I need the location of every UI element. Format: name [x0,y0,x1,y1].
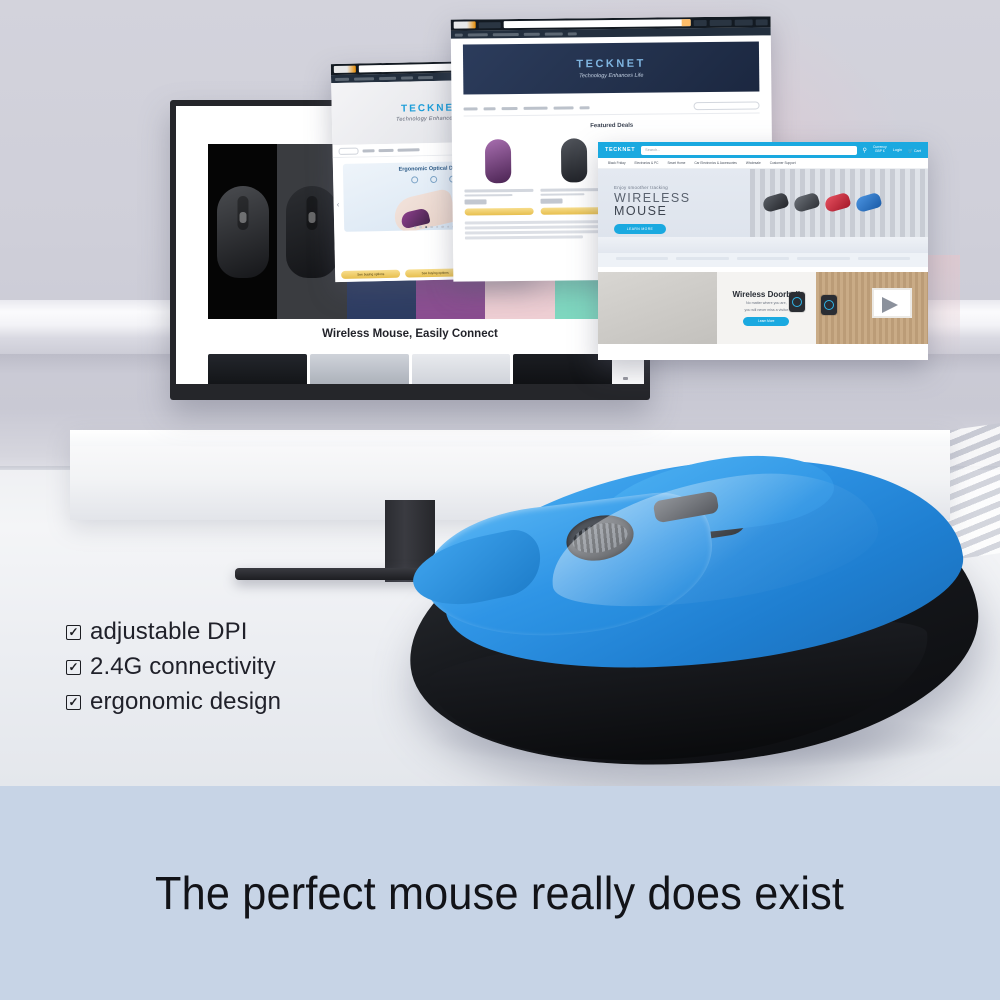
doorbell-device-icon [821,295,837,315]
feature-item: ✓ ergonomic design [66,688,281,716]
product-title-line [464,189,533,192]
wall-frame-decor [872,288,912,318]
menu-item-electronics-pc[interactable]: Electronics & PC [635,161,659,165]
product-title-line [540,193,585,196]
language-selector[interactable] [694,20,707,26]
feature-item: ✓ adjustable DPI [66,618,281,646]
amazon-logo[interactable] [334,66,356,73]
gallery-caption: Wireless Mouse, Easily Connect [176,328,644,340]
brand-tagline: Technology Enhances Life [579,72,643,79]
tab-mouse[interactable] [484,107,496,110]
search-icon[interactable]: ⚲ [863,147,867,154]
product-scene: Blue [0,0,1000,786]
mouse-thumbnail [561,138,587,182]
subnav-link-sell[interactable] [568,32,577,35]
tab-mouse[interactable] [363,149,375,152]
check-box-icon: ✓ [66,695,81,710]
strip-swatch [412,354,511,384]
mouse-thumbnail [286,186,338,278]
product-price [465,199,487,204]
promo-learn-more-button[interactable]: Learn More [743,317,789,326]
store-tab-nav [463,98,759,116]
tab-home[interactable] [338,147,358,154]
check-box-icon: ✓ [66,660,81,675]
hero-learn-more-button[interactable]: LEARN MORE [614,224,666,234]
currency-value: GBP £ [875,149,885,153]
search-input[interactable] [504,19,691,28]
menu-item-black-friday[interactable]: Black Friday [608,161,626,165]
buy-button-label: See buying options [341,270,400,279]
tab-keyboard[interactable] [379,148,394,151]
promo-left-photo [598,272,717,344]
gallery-strip [208,354,612,384]
amazon-logo[interactable] [454,21,476,28]
category-item[interactable] [616,257,668,260]
category-item[interactable] [737,257,789,260]
gallery-cell [208,144,277,319]
subnav-link[interactable] [379,76,396,79]
store-main-menu: Black Friday Electronics & PC Smart Home… [598,158,928,169]
doorbell-promo-banner[interactable]: Wireless Doorbell No matter where you ar… [598,272,928,344]
store-search-input[interactable] [694,101,760,110]
subnav-link[interactable] [335,77,349,80]
hero-copy: Enjoy smoother tracking WIRELESS MOUSE L… [614,185,691,234]
product-hero-mouse [398,452,1000,782]
product-card[interactable] [464,135,534,216]
check-box-icon: ✓ [66,625,81,640]
carousel-dot[interactable] [414,226,417,229]
login-link[interactable]: Login [893,148,902,152]
carousel-dot[interactable] [436,225,439,228]
detail-line [465,235,583,239]
feature-item: ✓ 2.4G connectivity [66,653,281,681]
tagline-banner: The perfect mouse really does exist [0,786,1000,1000]
menu-item-customer-support[interactable]: Customer Support [770,161,796,165]
cart-icon[interactable] [756,19,768,25]
subnav-link-todays-deals[interactable] [468,33,488,36]
subnav-link-all[interactable] [455,33,463,36]
brand-logo[interactable]: TECKNET [605,147,635,153]
mouse-icon [430,176,437,183]
tab-doorbell[interactable] [524,106,548,109]
hero-line-2: MOUSE [614,205,691,218]
mouse-black [761,192,789,213]
category-strip [598,253,928,267]
deliver-to[interactable] [479,22,501,28]
brand-logo: TECKNET [576,57,646,70]
carousel-dot[interactable] [441,225,444,228]
subnav-link[interactable] [401,76,413,79]
carousel-dot-active[interactable] [425,226,428,229]
promo-right-photo [816,272,928,344]
doorbell-device-icon [789,292,805,312]
tagline-text: The perfect mouse really does exist [155,866,844,920]
strip-swatch [310,354,409,384]
hero-mouse-lineup [763,195,881,210]
mouse-thumbnail [217,186,269,278]
tab-hubs[interactable] [580,106,590,109]
mouse-thumbnail [485,139,511,183]
hero-shelf [598,237,928,253]
power-led [623,377,628,380]
currency-selector[interactable]: Currency GBP £ [873,146,887,154]
mouse-gray [792,192,820,213]
brand-hero-banner: TECKNET Technology Enhances Life [463,41,760,94]
see-buying-options-button[interactable]: See buying options [341,270,400,279]
menu-item-smart-home[interactable]: Smart Home [667,161,685,165]
mouse-blue [854,192,882,213]
search-input[interactable]: Search... [641,146,856,155]
see-buying-options-button[interactable] [465,208,534,216]
subnav-link-registry[interactable] [524,32,540,35]
product-title-line [464,194,512,197]
category-item[interactable] [858,257,910,260]
category-item[interactable] [797,257,849,260]
menu-item-wholesale[interactable]: Wholesale [746,161,761,165]
subnav-link-gift-cards[interactable] [545,32,563,35]
account-menu[interactable] [710,19,732,25]
tab-keyboard[interactable] [502,106,518,109]
cart-icon[interactable]: 🛒 Cart [908,148,921,153]
orders-link[interactable] [735,19,753,25]
promo-subtitle-2: you will never miss a visitor [745,308,789,313]
feature-label: 2.4G connectivity [90,653,276,681]
carousel-dot[interactable] [447,225,450,228]
browser-window-tecknet-store[interactable]: TECKNET Search... ⚲ Currency GBP £ Login… [598,142,928,360]
feature-label: ergonomic design [90,688,281,716]
subnav-link[interactable] [418,75,433,78]
feature-list: ✓ adjustable DPI ✓ 2.4G connectivity ✓ e… [66,618,281,723]
feature-label: adjustable DPI [90,618,248,646]
store-header: TECKNET Search... ⚲ Currency GBP £ Login… [598,142,928,158]
menu-item-car-electronics[interactable]: Car Electronics & Accessories [694,161,737,165]
promo-subtitle-1: No matter where you are, [746,301,787,306]
product-image [464,135,533,188]
category-item[interactable] [676,257,728,260]
strip-swatch [208,354,307,384]
tab-home[interactable] [464,107,478,110]
mouse-red [823,192,851,213]
hero-eyebrow: Enjoy smoother tracking [614,185,691,190]
tab-doorbell[interactable] [398,148,420,151]
display-plinth-top [70,430,950,446]
cart-label: Cart [914,149,921,153]
product-price [540,199,562,204]
tab-cooling[interactable] [554,106,574,109]
carousel-dot[interactable] [419,226,422,229]
subnav-link[interactable] [354,77,374,80]
hero-banner: Enjoy smoother tracking WIRELESS MOUSE L… [598,169,928,253]
carousel-dot[interactable] [430,226,433,229]
usb-icon [411,176,418,183]
subnav-link-customer-service[interactable] [493,32,519,35]
carousel-prev-icon[interactable]: ‹ [337,200,340,209]
